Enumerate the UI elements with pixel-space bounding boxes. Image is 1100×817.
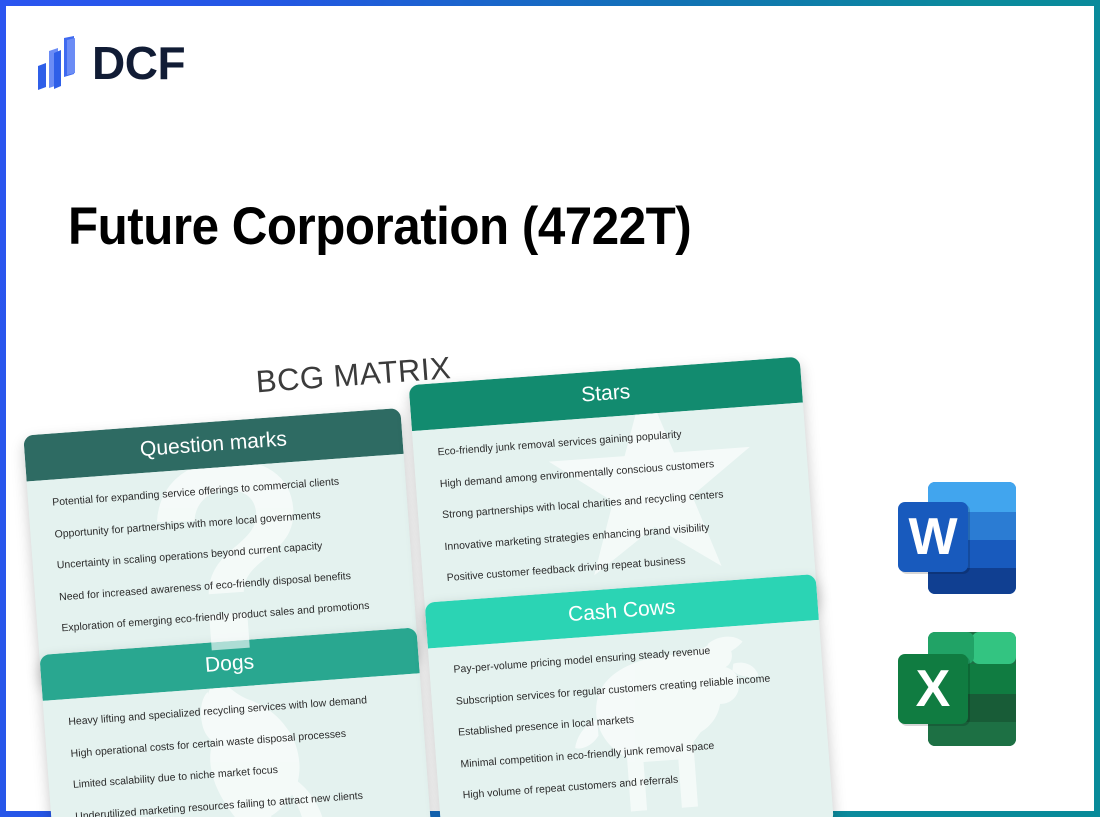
list-item: Underutilized marketing resources failin… [75,787,413,817]
quadrant-title: Cash Cows [567,595,676,627]
list-item: Minimal competition in eco-friendly junk… [460,733,812,769]
dcf-wordmark: DCF [92,40,185,86]
quadrant-title: Dogs [204,650,255,678]
microsoft-excel-icon[interactable]: X [892,628,1022,750]
list-item: Eco-friendly junk removal services gaini… [437,422,789,458]
list-item: Need for increased awareness of eco-frie… [59,567,397,602]
list-item: High demand among environmentally consci… [440,453,792,489]
quadrant-dogs[interactable]: Dogs Heavy lifting and specialized recyc… [39,627,434,817]
dcf-bars-icon [36,36,80,90]
word-letter: W [908,508,958,566]
list-item: Strong partnerships with local charities… [442,484,794,520]
quadrant-bullet-list: Eco-friendly junk removal services gaini… [437,422,798,584]
slide-canvas: DCF Future Corporation (4722T) BCG MATRI… [0,0,1100,817]
quadrant-bullet-list: Heavy lifting and specialized recycling … [68,692,415,817]
list-item: Established presence in local markets [458,702,810,738]
page-title: Future Corporation (4722T) [68,196,691,257]
quadrant-cash-cows[interactable]: Cash Cows Pay-per-volume pricing model e… [425,574,834,817]
quadrant-title: Question marks [139,427,287,462]
list-item: Pay-per-volume pricing model ensuring st… [453,639,805,675]
quadrant-bullet-list: Pay-per-volume pricing model ensuring st… [453,639,814,801]
list-item: Limited scalability due to niche market … [73,755,411,790]
bcg-matrix: BCG MATRIX Market growth Question marks … [0,345,830,817]
list-item: Exploration of emerging eco-friendly pro… [61,599,399,634]
quadrant-bullet-list: Potential for expanding service offering… [52,473,399,634]
list-item: Innovative marketing strategies enhancin… [444,516,796,552]
quadrant-title: Stars [580,380,631,408]
dcf-logo[interactable]: DCF [36,36,185,90]
list-item: High operational costs for certain waste… [70,724,408,759]
list-item: Subscription services for regular custom… [456,670,808,706]
list-item: High volume of repeat customers and refe… [462,765,814,801]
excel-letter: X [916,660,951,718]
list-item: Potential for expanding service offering… [52,473,390,508]
list-item: Opportunity for partnerships with more l… [54,504,392,539]
list-item: Uncertainty in scaling operations beyond… [56,536,394,571]
microsoft-word-icon[interactable]: W [892,478,1022,598]
list-item: Heavy lifting and specialized recycling … [68,692,406,727]
quadrant-body: Pay-per-volume pricing model ensuring st… [428,620,834,817]
list-item: Positive customer feedback driving repea… [446,547,798,583]
